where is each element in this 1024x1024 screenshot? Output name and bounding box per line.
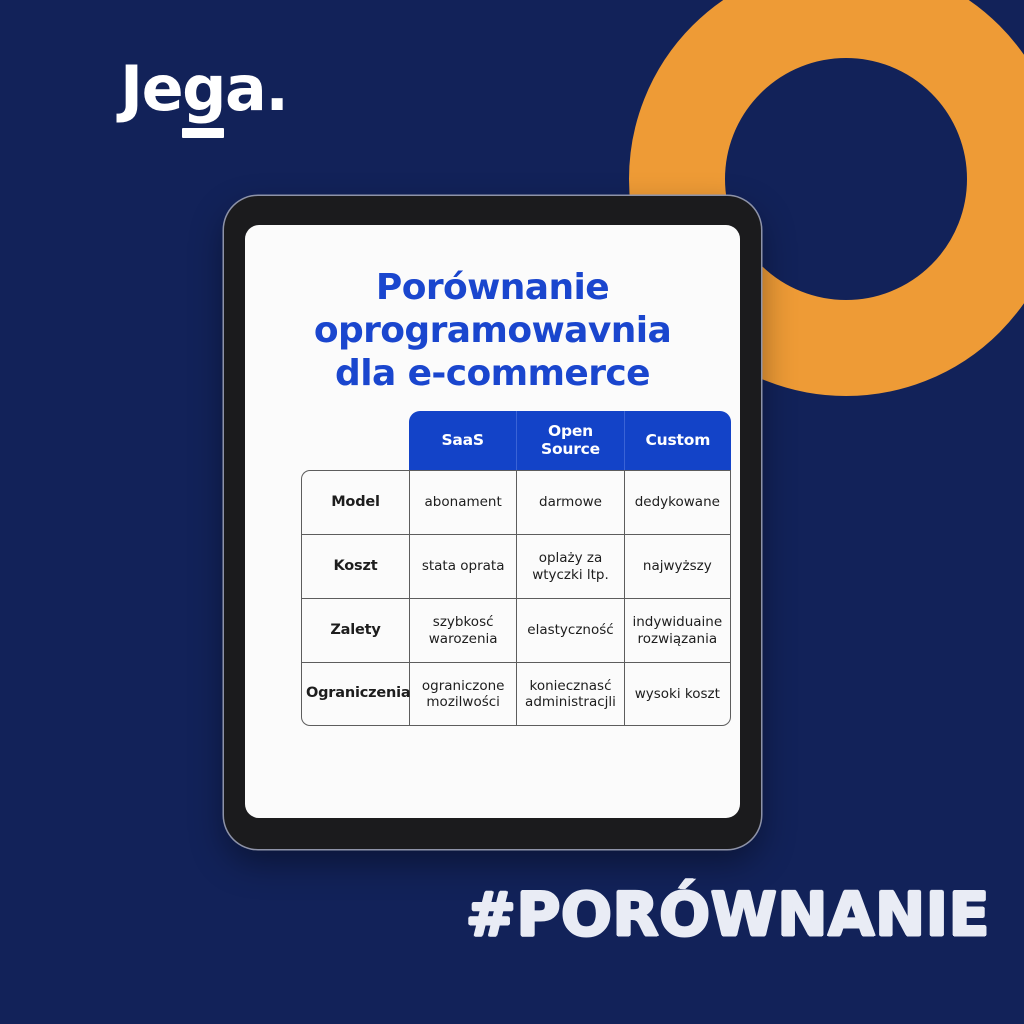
cell-ograniczenia-saas: ograniczone mozilwości: [409, 662, 516, 726]
row-label-koszt: Koszt: [301, 534, 409, 598]
brand-logo-text: Jega.: [120, 58, 287, 120]
cell-model-saas: abonament: [409, 470, 516, 534]
page-title-line-3: dla e-commerce: [335, 353, 650, 394]
table-row: Zalety szybkosć warozenia elastyczność i…: [301, 598, 731, 662]
cell-ograniczenia-custom: wysoki koszt: [624, 662, 731, 726]
table-row: Ograniczenia ograniczone mozilwości koni…: [301, 662, 731, 726]
brand-logo: Jega.: [120, 58, 287, 120]
column-header-custom: Custom: [624, 411, 731, 470]
cell-zalety-saas: szybkosć warozenia: [409, 598, 516, 662]
table-body: Model abonament darmowe dedykowane Koszt…: [301, 470, 731, 726]
cell-koszt-open-source: oplaży za wtyczki ltp.: [516, 534, 623, 598]
poster-canvas: Jega. Porównanie oprogramowavnia dla e-c…: [0, 0, 1024, 1024]
page-title: Porównanie oprogramowavnia dla e-commerc…: [261, 267, 724, 395]
row-label-model: Model: [301, 470, 409, 534]
table-corner-cell: [301, 411, 409, 470]
footer-hashtag: #PORÓWNANIE: [0, 880, 990, 950]
cell-zalety-custom: indywiduaine rozwiązania: [624, 598, 731, 662]
cell-koszt-saas: stata oprata: [409, 534, 516, 598]
brand-logo-underline-icon: [182, 128, 224, 138]
table-row: Koszt stata oprata oplaży za wtyczki ltp…: [301, 534, 731, 598]
cell-model-open-source: darmowe: [516, 470, 623, 534]
cell-model-custom: dedykowane: [624, 470, 731, 534]
cell-ograniczenia-open-source: koniecznasć administracjli: [516, 662, 623, 726]
comparison-table: SaaS Open Source Custom Model abonament …: [301, 411, 731, 726]
table-header: SaaS Open Source Custom: [301, 411, 731, 470]
page-title-line-2: oprogramowavnia: [314, 310, 671, 351]
row-label-ograniczenia: Ograniczenia: [301, 662, 409, 726]
column-header-saas: SaaS: [409, 411, 516, 470]
row-label-zalety: Zalety: [301, 598, 409, 662]
cell-zalety-open-source: elastyczność: [516, 598, 623, 662]
table-header-row: SaaS Open Source Custom: [301, 411, 731, 470]
page-title-line-1: Porównanie: [376, 267, 609, 308]
column-header-open-source: Open Source: [516, 411, 623, 470]
tablet-screen: Porównanie oprogramowavnia dla e-commerc…: [245, 225, 740, 818]
tablet-device-frame: Porównanie oprogramowavnia dla e-commerc…: [224, 196, 761, 849]
table-row: Model abonament darmowe dedykowane: [301, 470, 731, 534]
cell-koszt-custom: najwyższy: [624, 534, 731, 598]
